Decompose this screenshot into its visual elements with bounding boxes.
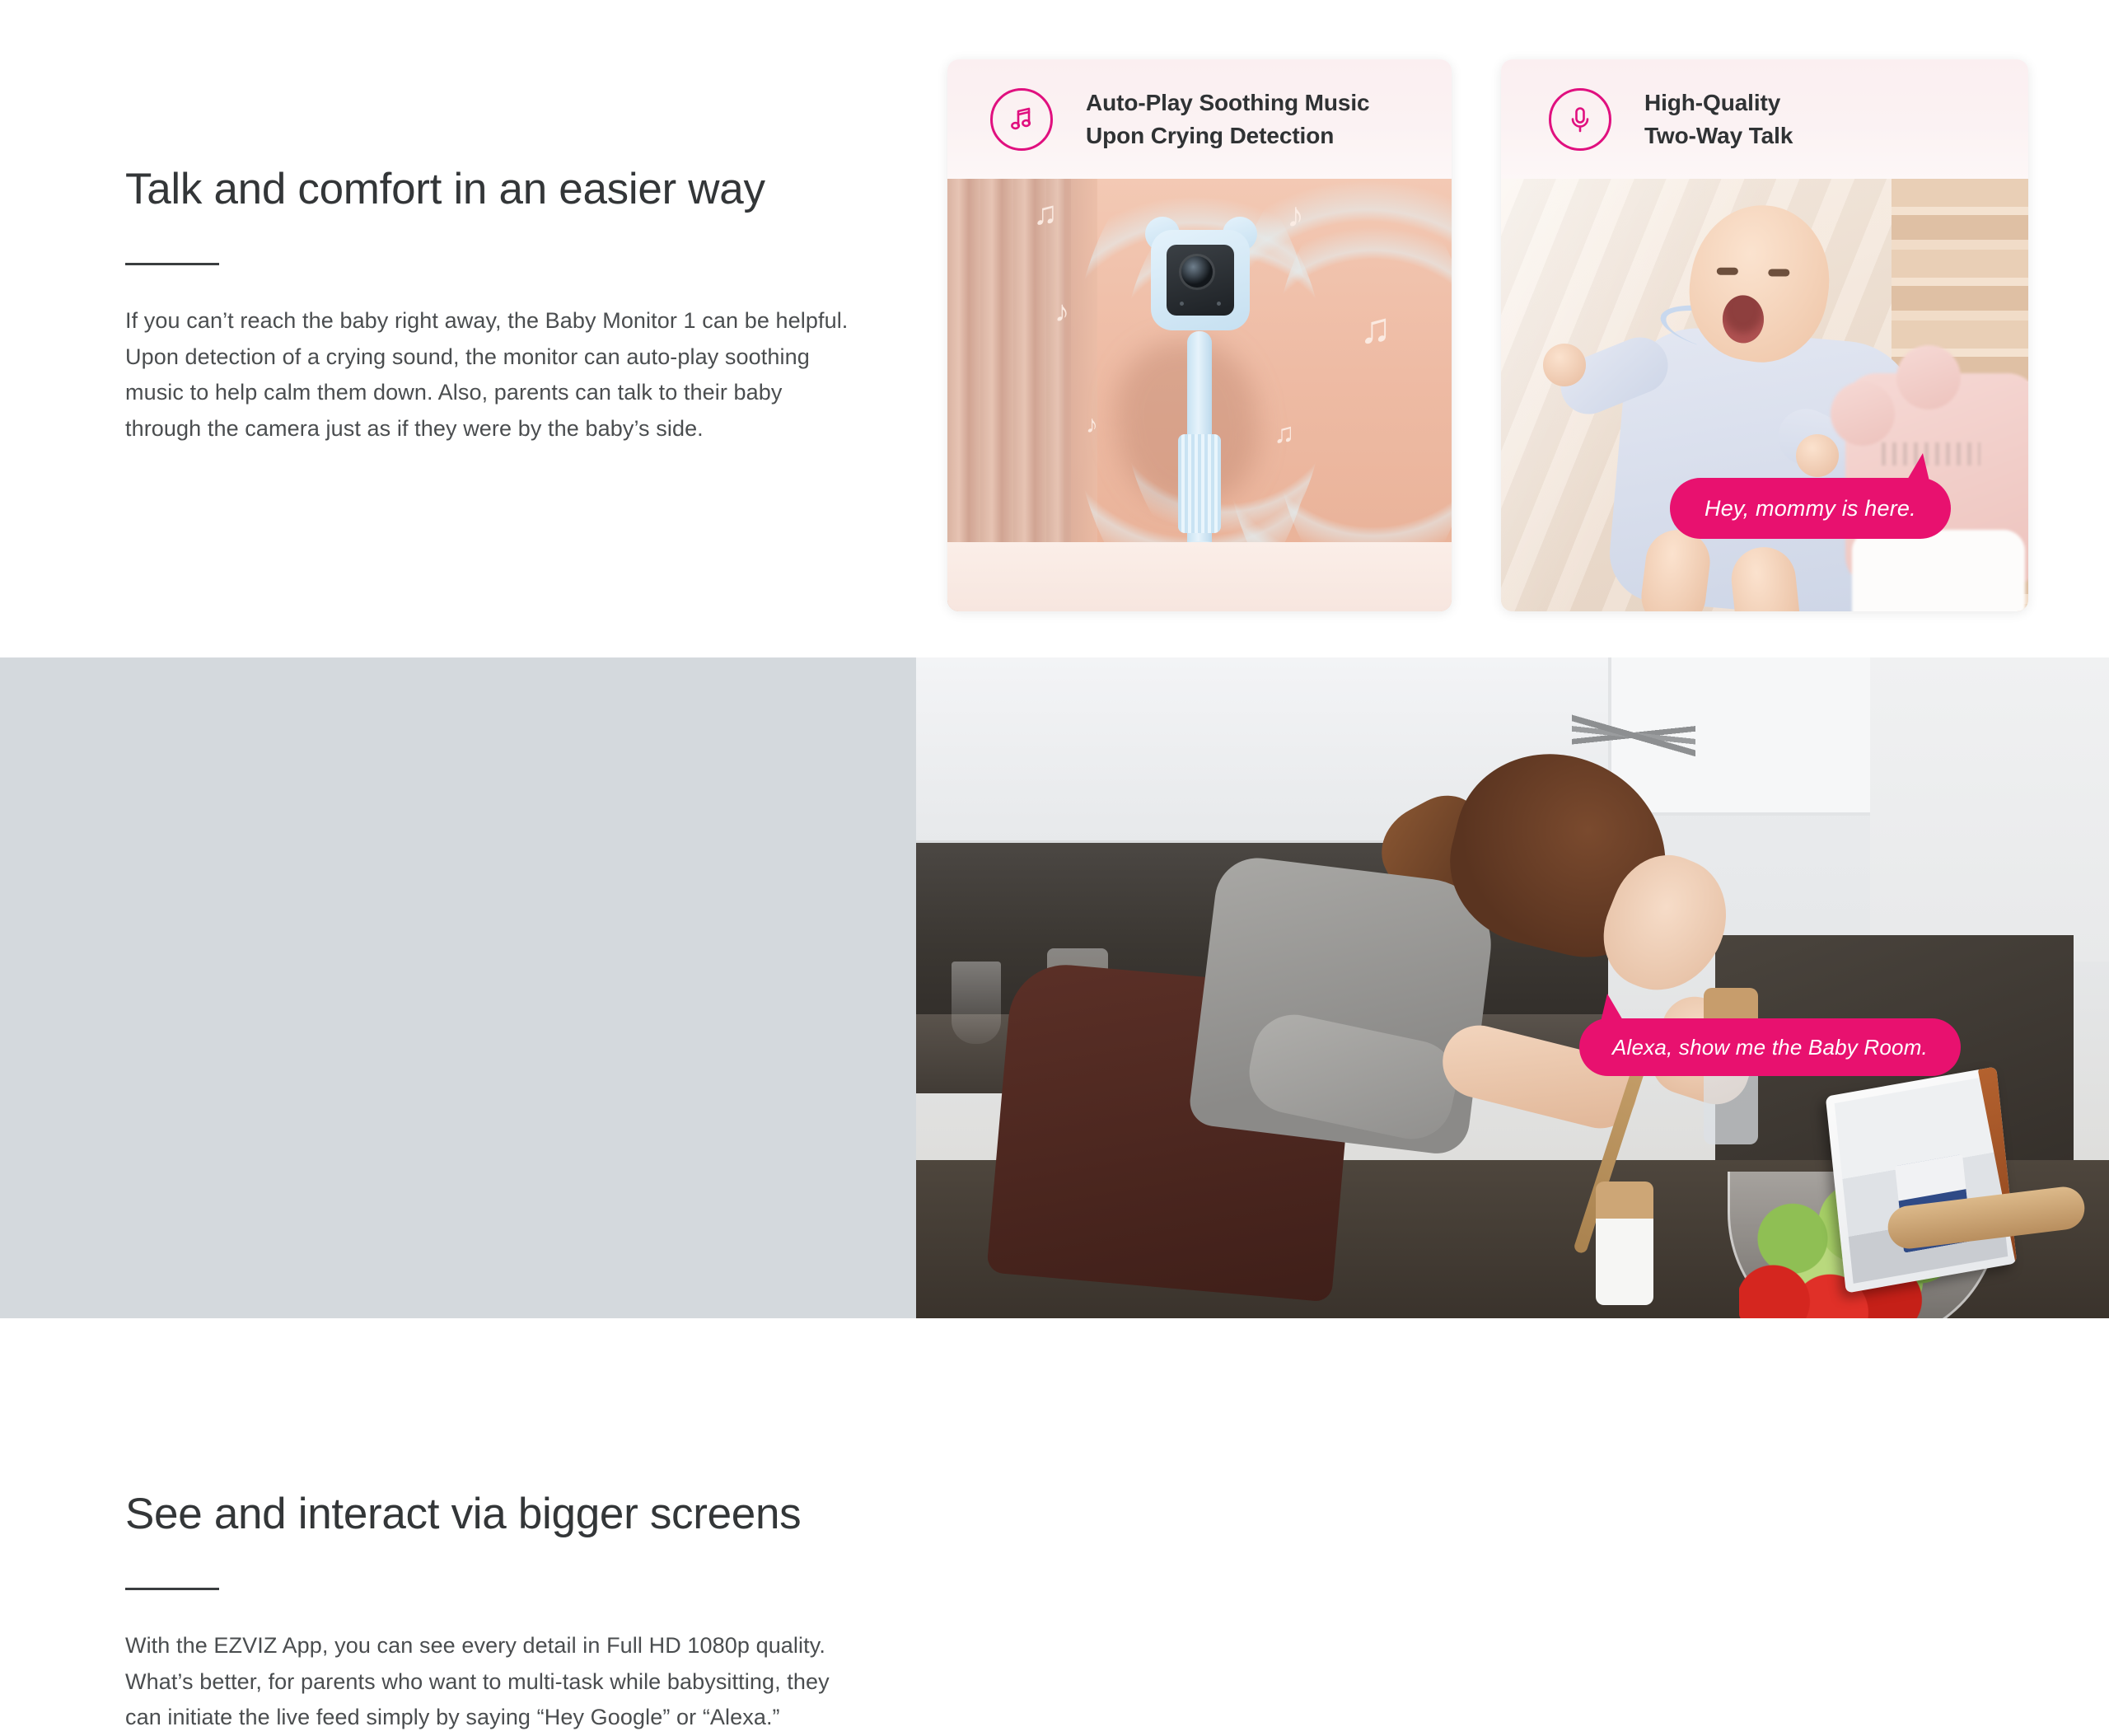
baby-hand-left: [1543, 344, 1586, 386]
section-two-copy: See and interact via bigger screens With…: [125, 1490, 883, 1736]
card-title-line-2: Two-Way Talk: [1644, 119, 1793, 152]
card-media-camera-illustration: ♫ ♪ ♪ ♪ ♫ ♫: [947, 179, 1452, 611]
tablet-screen: [1835, 1076, 2008, 1284]
pink-camera-speaker-grille: [1882, 442, 1980, 466]
section-one-copy: Talk and comfort in an easier way If you…: [125, 165, 867, 447]
section-one-heading: Talk and comfort in an easier way: [125, 165, 867, 215]
card-title-line-1: Auto-Play Soothing Music: [1086, 87, 1369, 119]
music-note-icon: [990, 88, 1053, 151]
section-one-divider: [125, 263, 219, 265]
card-title-line-1: High-Quality: [1644, 87, 1793, 119]
baby-eye-left: [1717, 267, 1738, 274]
music-note-decor: ♪: [1287, 195, 1304, 235]
section-one-body: If you can’t reach the baby right away, …: [125, 303, 850, 447]
camera-scene: ♫ ♪ ♪ ♪ ♫ ♫: [947, 179, 1452, 611]
baby-photo: Hey, mommy is here.: [1501, 179, 2028, 611]
microphone-icon: [1549, 88, 1611, 151]
music-note-decor: ♫: [1033, 195, 1058, 232]
pink-camera-ear-right: [1896, 345, 1961, 409]
baby-hand-right: [1796, 434, 1839, 477]
section-two-divider: [125, 1588, 219, 1590]
baby-open-mouth: [1723, 294, 1765, 343]
salt-shaker: [1596, 1182, 1653, 1305]
speech-bubble-alexa: Alexa, show me the Baby Room.: [1579, 1018, 1961, 1076]
camera-face-panel: [1167, 245, 1234, 316]
card-title-two-way-talk: High-Quality Two-Way Talk: [1644, 87, 1793, 152]
wine-glass: [952, 962, 1001, 1044]
camera-lens: [1181, 256, 1213, 288]
camera-collar: [1178, 434, 1221, 533]
bigger-screens-section: See and interact via bigger screens With…: [0, 657, 2109, 1318]
camera-sensor-dot: [1217, 302, 1221, 306]
music-note-decor: ♫: [1359, 304, 1391, 353]
camera-sensor-dot: [1180, 302, 1184, 306]
pink-camera-ear-left: [1831, 381, 1895, 446]
talk-and-comfort-section: Talk and comfort in an easier way If you…: [0, 0, 2109, 657]
card-header-two-way-talk: High-Quality Two-Way Talk: [1501, 59, 2028, 179]
kitchen-right-wall: [1870, 657, 2109, 962]
pink-camera-screen: [1852, 530, 2025, 611]
feature-card-auto-play-music[interactable]: Auto-Play Soothing Music Upon Crying Det…: [947, 59, 1452, 611]
card-title-auto-play-music: Auto-Play Soothing Music Upon Crying Det…: [1086, 87, 1369, 152]
music-note-decor: ♪: [1086, 411, 1098, 439]
music-note-decor: ♪: [1054, 294, 1069, 329]
baby-eye-right: [1769, 269, 1790, 276]
tablet-live-feed[interactable]: [1826, 1066, 2017, 1293]
card-media-baby-photo: Hey, mommy is here.: [1501, 179, 2028, 611]
music-note-decor: ♫: [1274, 418, 1295, 450]
kitchen-photo: Alexa, show me the Baby Room.: [916, 657, 2109, 1318]
card-title-line-2: Upon Crying Detection: [1086, 119, 1369, 152]
section-two-heading: See and interact via bigger screens: [125, 1490, 883, 1540]
speech-bubble-mommy: Hey, mommy is here.: [1670, 478, 1951, 539]
shelf-surface: [947, 542, 1452, 611]
section-two-body: With the EZVIZ App, you can see every de…: [125, 1628, 850, 1736]
feature-card-two-way-talk[interactable]: High-Quality Two-Way Talk: [1501, 59, 2028, 611]
card-header-auto-play-music: Auto-Play Soothing Music Upon Crying Det…: [947, 59, 1452, 179]
